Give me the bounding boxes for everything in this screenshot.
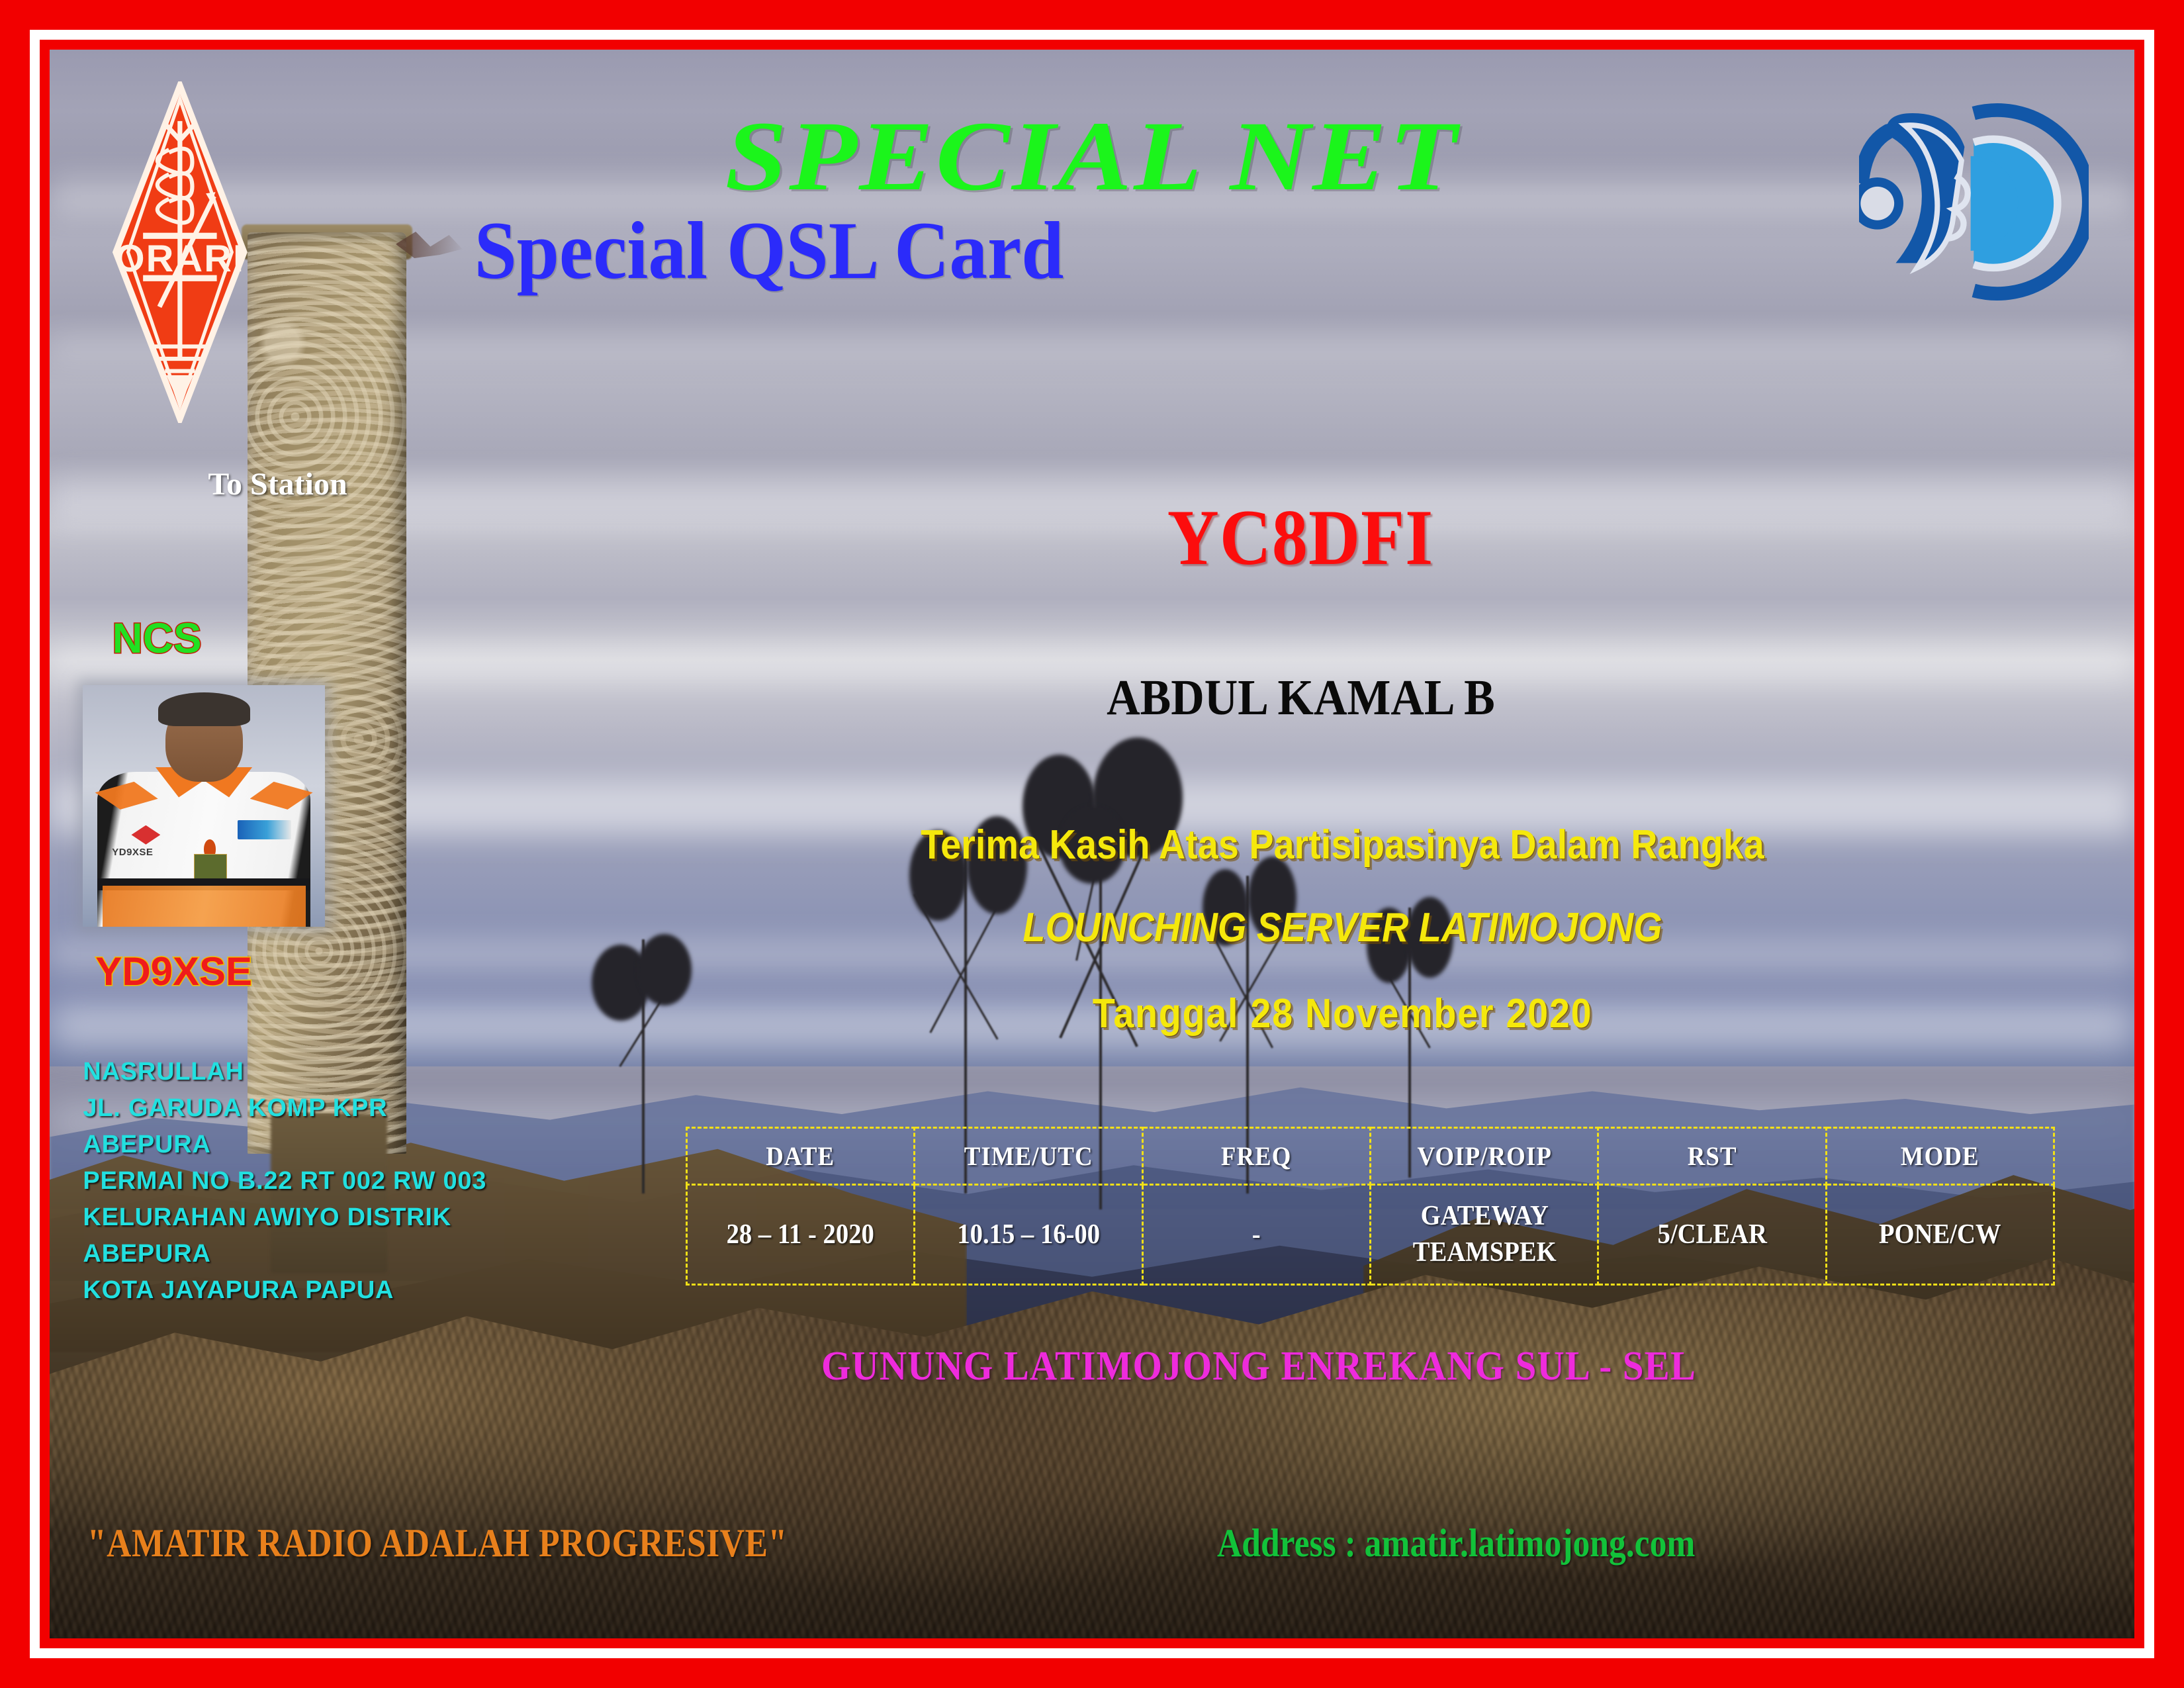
website-address-text: Address : amatir.latimojong.com bbox=[1217, 1521, 1695, 1566]
photo-hair bbox=[158, 692, 250, 726]
table-header-row: DATE TIME/UTC FREQ VOIP/ROIP RST MODE bbox=[686, 1128, 2054, 1184]
photo-sash bbox=[103, 886, 306, 927]
table-cell-time: 10.15 – 16-00 bbox=[923, 1184, 1133, 1285]
ncs-operator-photo: YD9XSE bbox=[83, 685, 324, 927]
table-header-rst: RST bbox=[1608, 1128, 1817, 1184]
photo-shirt-callsign: YD9XSE bbox=[112, 847, 153, 858]
address-line: NASRULLAH bbox=[83, 1054, 771, 1090]
address-line: KOTA JAYAPURA PAPUA bbox=[83, 1272, 771, 1309]
table-header-time: TIME/UTC bbox=[923, 1128, 1133, 1184]
table-cell-freq: - bbox=[1152, 1184, 1361, 1285]
table-header-date: DATE bbox=[696, 1128, 905, 1184]
table-row: 28 – 11 - 2020 10.15 – 16-00 - GATEWAY T… bbox=[686, 1184, 2054, 1285]
event-thanks-line: Terima Kasih Atas Partisipasinya Dalam R… bbox=[798, 821, 1886, 868]
address-line: ABEPURA bbox=[83, 1236, 771, 1272]
table-cell-voip-roip: GATEWAY TEAMSPEK bbox=[1379, 1184, 1589, 1285]
table-cell-rst: 5/CLEAR bbox=[1608, 1184, 1817, 1285]
photo-badge-logo bbox=[238, 820, 291, 839]
table-cell-date: 28 – 11 - 2020 bbox=[696, 1184, 905, 1285]
location-label: GUNUNG LATIMOJONG ENREKANG SUL - SEL bbox=[684, 1343, 1835, 1390]
page-title-special-net: SPECIAL NET bbox=[50, 107, 2134, 206]
mailing-address-block: NASRULLAH JL. GARUDA KOMP KPR ABEPURA PE… bbox=[83, 1054, 771, 1309]
table-header-mode: MODE bbox=[1835, 1128, 2045, 1184]
card-photo-scene: ORARI SPECIAL NET bbox=[50, 50, 2134, 1638]
address-line: ABEPURA bbox=[83, 1127, 771, 1163]
event-date-line: Tanggal 28 November 2020 bbox=[798, 990, 1886, 1037]
table-header-voip-roip: VOIP/ROIP bbox=[1379, 1128, 1589, 1184]
ncs-callsign: YD9XSE bbox=[95, 949, 252, 994]
to-station-label: To Station bbox=[208, 466, 347, 502]
address-line: KELURAHAN AWIYO DISTRIK bbox=[83, 1199, 771, 1236]
operator-name: ABDUL KAMAL B bbox=[897, 673, 1703, 723]
event-title-line: LOUNCHING SERVER LATIMOJONG bbox=[798, 904, 1886, 951]
qso-details-table: DATE TIME/UTC FREQ VOIP/ROIP RST MODE 28… bbox=[686, 1127, 2056, 1286]
table-header-freq: FREQ bbox=[1152, 1128, 1361, 1184]
address-line: JL. GARUDA KOMP KPR bbox=[83, 1090, 771, 1127]
table-cell-mode: PONE/CW bbox=[1835, 1184, 2045, 1285]
qsl-card: ORARI SPECIAL NET bbox=[0, 0, 2184, 1688]
ncs-label: NCS bbox=[113, 614, 202, 663]
page-subtitle-special-qsl-card: Special QSL Card bbox=[148, 210, 1389, 292]
motto-text: "AMATIR RADIO ADALAH PROGRESIVE" bbox=[87, 1521, 788, 1566]
station-callsign: YC8DFI bbox=[925, 498, 1676, 577]
address-line: PERMAI NO B.22 RT 002 RW 003 bbox=[83, 1163, 771, 1199]
